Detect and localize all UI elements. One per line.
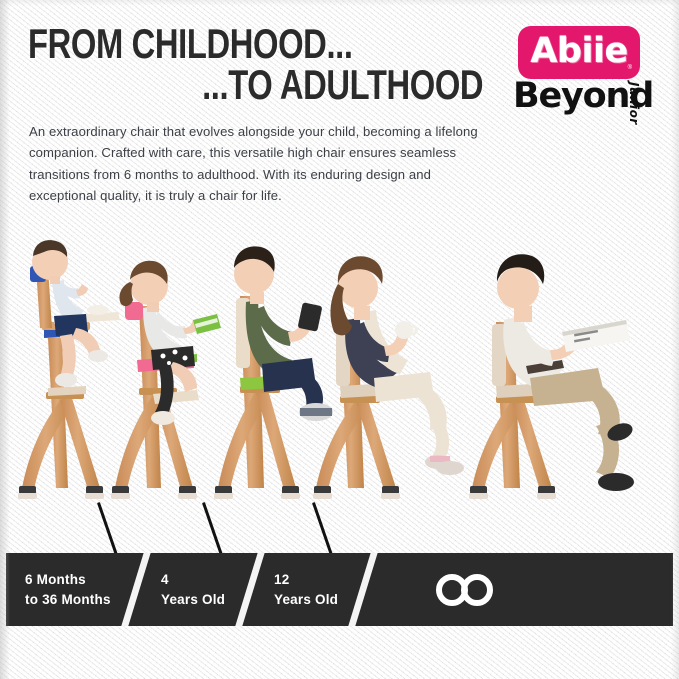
timeline-segment-1: 6 Months to 36 Months	[25, 553, 111, 626]
timeline-segment-2-line-1: 4	[161, 570, 225, 589]
timeline-segment-3-line-2: Years Old	[274, 590, 338, 609]
headline-line-1: FROM CHILDHOOD...	[28, 24, 395, 63]
timeline-divider-2	[230, 553, 269, 626]
man-in-chair-illustration	[466, 210, 678, 510]
timeline-segment-1-line-1: 6 Months	[25, 570, 111, 589]
logo-badge-background: Abiie ®	[518, 26, 640, 79]
headline-line-2: ...TO ADULTHOOD	[131, 65, 498, 104]
logo-brand-name: Abiie	[518, 26, 640, 79]
logo-qualifier: Junior	[627, 82, 641, 125]
timeline-segment-3: 12 Years Old	[274, 553, 338, 626]
headline-block: FROM CHILDHOOD... ...TO ADULTHOOD	[28, 24, 498, 105]
timeline-segment-2-line-2: Years Old	[161, 590, 225, 609]
infinity-icon	[436, 574, 498, 606]
timeline-segment-3-line-1: 12	[274, 570, 338, 589]
brand-logo: Abiie ® Beyond Junior	[513, 26, 663, 136]
body-paragraph: An extraordinary chair that evolves alon…	[29, 121, 499, 206]
timeline-divider-1	[116, 553, 155, 626]
infinity-ring-right	[461, 574, 493, 606]
timeline-segment-1-line-2: to 36 Months	[25, 590, 111, 609]
timeline-segment-2: 4 Years Old	[161, 553, 225, 626]
figures-stage	[0, 210, 679, 510]
figure-man-in-chair	[466, 210, 678, 510]
product-infographic-poster: FROM CHILDHOOD... ...TO ADULTHOOD An ext…	[0, 0, 679, 679]
registered-trademark-icon: ®	[628, 65, 632, 71]
age-timeline-bar: 6 Months to 36 Months 4 Years Old 12 Yea…	[6, 553, 673, 626]
timeline-divider-3	[343, 553, 382, 626]
